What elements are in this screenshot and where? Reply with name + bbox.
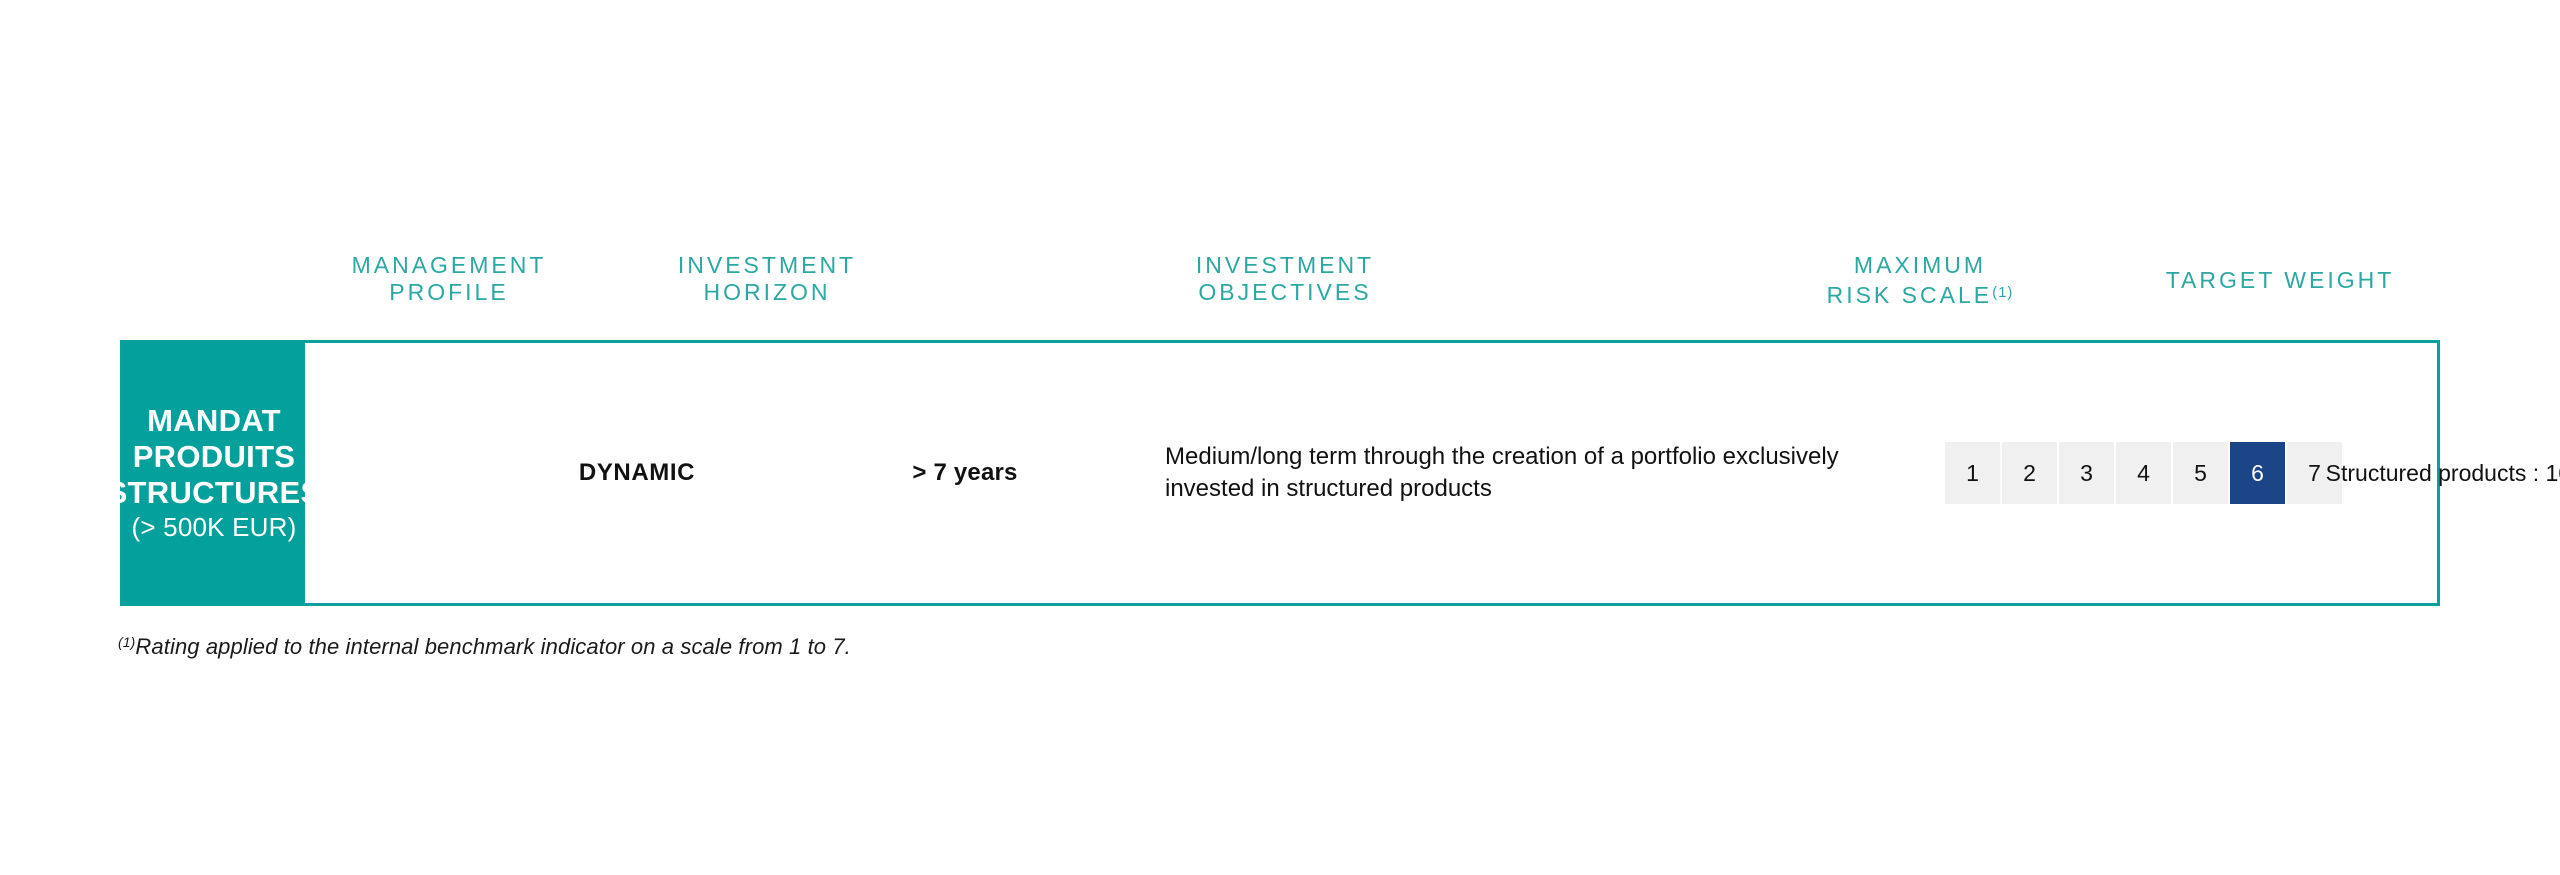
footnote-text: Rating applied to the internal benchmark… <box>135 634 850 659</box>
mandate-table: MANDAT PRODUITS STRUCTURES (> 500K EUR) … <box>120 340 2440 606</box>
mandate-name-cell: MANDAT PRODUITS STRUCTURES (> 500K EUR) <box>123 343 305 603</box>
mandate-subtitle: (> 500K EUR) <box>132 512 297 543</box>
risk-level-2[interactable]: 2 <box>2002 442 2057 504</box>
mandate-summary-sheet: MANAGEMENT PROFILE INVESTMENT HORIZON IN… <box>0 0 2560 875</box>
risk-level-1[interactable]: 1 <box>1945 442 2000 504</box>
risk-level-3[interactable]: 3 <box>2059 442 2114 504</box>
table-row: DYNAMIC > 7 years Medium/long term throu… <box>305 343 2437 603</box>
mandate-title: MANDAT PRODUITS STRUCTURES <box>107 403 322 511</box>
column-header-target-weight: TARGET WEIGHT <box>2120 267 2440 294</box>
column-header-investment-horizon: INVESTMENT HORIZON <box>632 252 902 306</box>
column-header-investment-objectives: INVESTMENT OBJECTIVES <box>1115 252 1455 306</box>
cell-maximum-risk-scale: 1 2 3 4 5 6 7 <box>1945 343 2345 603</box>
risk-scale: 1 2 3 4 5 6 7 <box>1945 442 2342 504</box>
cell-management-profile: DYNAMIC <box>557 343 717 603</box>
risk-level-6-selected[interactable]: 6 <box>2230 442 2285 504</box>
column-header-maximum-risk-scale-label: MAXIMUM RISK SCALE <box>1827 252 1993 308</box>
column-header-management-profile: MANAGEMENT PROFILE <box>304 252 594 306</box>
column-header-maximum-risk-scale: MAXIMUM RISK SCALE(1) <box>1730 252 2110 309</box>
footnote-marker-icon: (1) <box>1992 284 2013 301</box>
risk-level-5[interactable]: 5 <box>2173 442 2228 504</box>
cell-target-weight: Structured products : 100% <box>2305 343 2560 603</box>
footnote: (1)Rating applied to the internal benchm… <box>118 634 851 660</box>
cell-investment-horizon: > 7 years <box>885 343 1045 603</box>
cell-investment-objectives: Medium/long term through the creation of… <box>1165 343 1865 603</box>
column-headers: MANAGEMENT PROFILE INVESTMENT HORIZON IN… <box>120 252 2440 334</box>
risk-level-4[interactable]: 4 <box>2116 442 2171 504</box>
footnote-superscript-icon: (1) <box>118 634 135 650</box>
